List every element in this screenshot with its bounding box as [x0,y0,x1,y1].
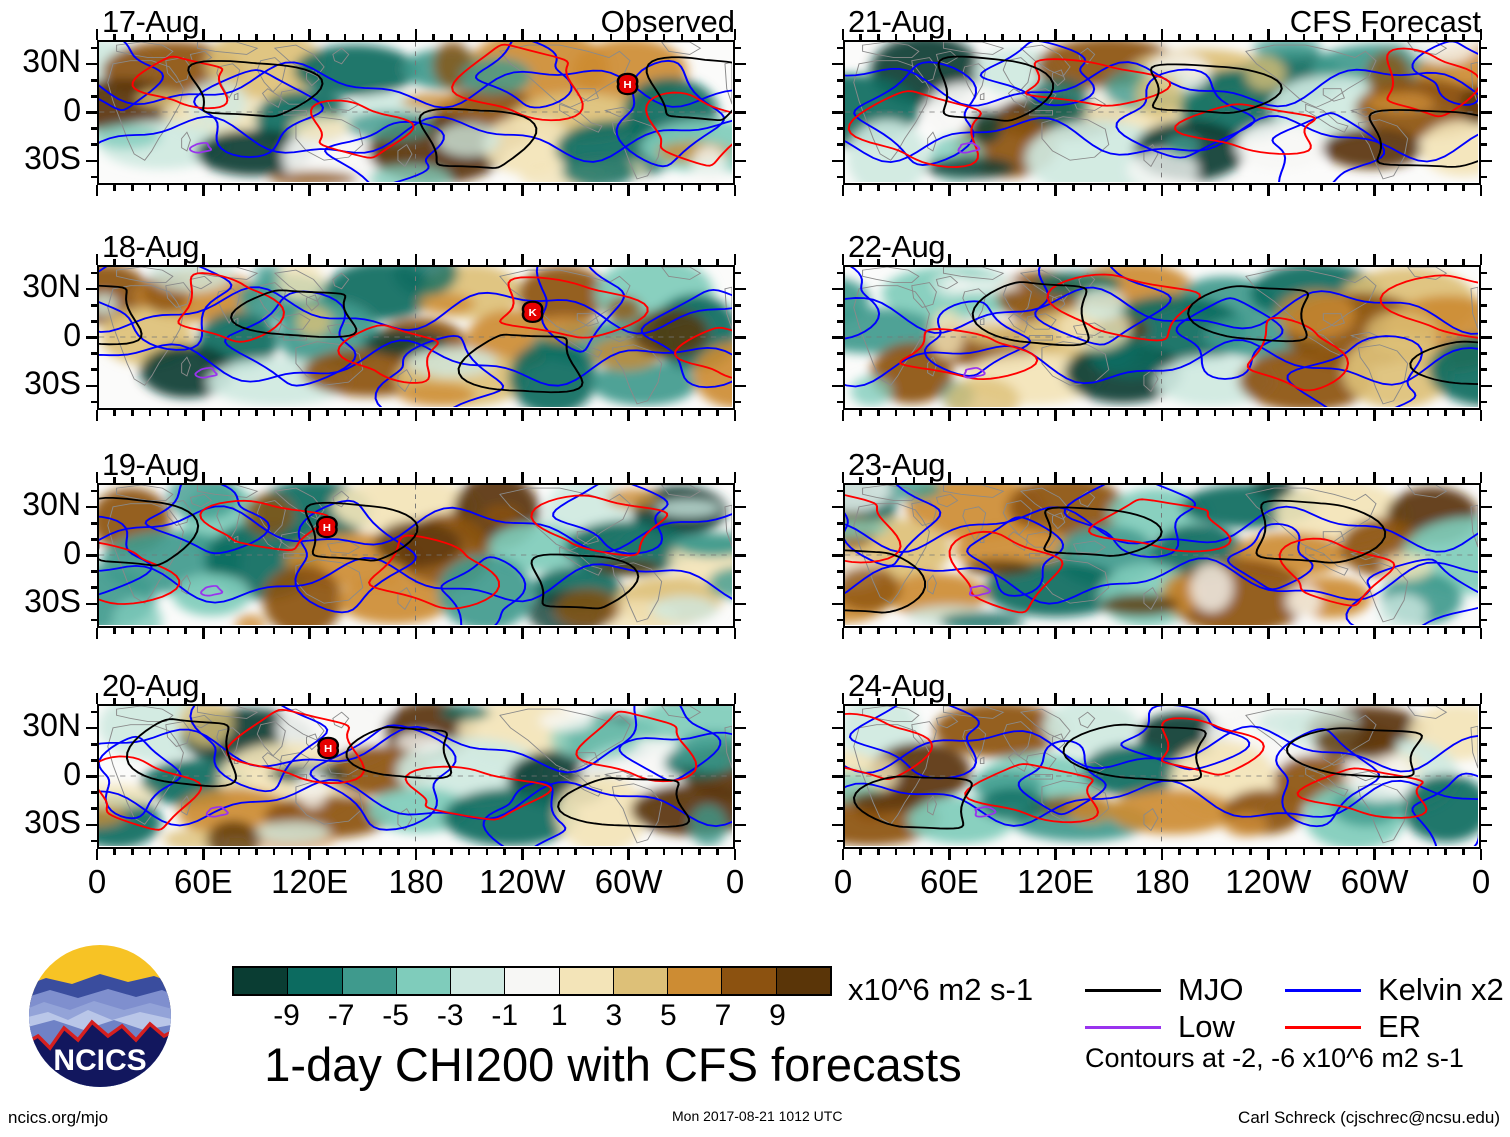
axis-tick [96,628,99,639]
axis-tick [832,288,843,291]
colorbar-segment [722,968,776,994]
axis-tick [837,807,843,810]
axis-tick [202,849,205,860]
axis-tick [1481,554,1492,557]
axis-tick [91,619,97,622]
axis-tick [86,288,97,291]
axis-tick [1214,477,1217,483]
axis-tick [1462,698,1465,704]
axis-tick [1481,320,1487,323]
axis-tick [948,472,951,483]
axis-tick [113,259,116,265]
axis-tick [379,628,382,634]
axis-tick [96,472,99,483]
axis-tick [397,34,400,40]
axis-tick [735,385,746,388]
axis-tick [735,127,741,130]
axis-tick [735,603,746,606]
axis-tick [1373,849,1376,860]
axis-tick [521,410,524,421]
axis-tick [832,554,843,557]
axis-tick [1249,698,1252,704]
axis-tick [984,477,987,483]
tropical-cyclone-icon: K [523,302,542,322]
axis-tick [1481,368,1487,371]
axis-tick [930,34,933,40]
axis-tick [1143,185,1146,191]
axis-tick [468,259,471,265]
colorbar-tick-label: 9 [737,999,817,1033]
axis-tick [895,698,898,704]
colorbar-units-label: x10^6 m2 s-1 [848,972,1033,1008]
colorbar-segment [560,968,614,994]
axis-tick [379,410,382,416]
axis-tick [91,320,97,323]
axis-tick [592,410,595,416]
axis-tick [167,34,170,40]
axis-tick [627,849,630,860]
axis-tick [1481,619,1487,622]
colorbar-segment [614,968,668,994]
axis-tick [167,259,170,265]
axis-tick [326,259,329,265]
footer-url[interactable]: ncics.org/mjo [8,1108,108,1128]
axis-tick [273,698,276,704]
axis-tick [1108,849,1111,855]
axis-tick [1444,34,1447,40]
axis-tick [308,185,311,196]
axis-tick [149,259,152,265]
axis-tick [521,185,524,196]
legend-swatch [1285,1026,1361,1029]
axis-tick [1019,259,1022,265]
axis-tick [503,698,506,704]
cyclone-label: H [324,744,332,755]
axis-tick [645,628,648,634]
axis-tick [1125,259,1128,265]
axis-tick [273,259,276,265]
axis-tick [1037,410,1040,416]
axis-tick [255,34,258,40]
legend-swatch [1285,989,1361,992]
axis-tick [837,352,843,355]
axis-tick [1072,628,1075,634]
axis-tick [539,849,542,855]
axis-tick [984,259,987,265]
axis-tick [397,628,400,634]
axis-tick [486,185,489,191]
axis-tick [842,472,845,483]
axis-tick [344,34,347,40]
axis-tick [1019,410,1022,416]
axis-tick [1001,34,1004,40]
axis-tick [1143,628,1146,634]
axis-tick [735,79,741,82]
axis-tick [1303,185,1306,191]
axis-tick [832,603,843,606]
axis-tick [113,849,116,855]
axis-tick [91,570,97,573]
axis-tick [681,698,684,704]
axis-tick [202,628,205,639]
axis-tick [948,628,951,639]
axis-tick [1285,698,1288,704]
axis-tick [503,185,506,191]
axis-tick [913,628,916,634]
axis-tick [167,185,170,191]
axis-tick [837,840,843,843]
axis-tick [184,259,187,265]
axis-tick [432,185,435,191]
axis-tick [837,95,843,98]
axis-tick [1214,34,1217,40]
axis-tick [837,176,843,179]
axis-tick [1019,185,1022,191]
axis-tick [539,259,542,265]
axis-tick [91,272,97,275]
axis-tick [1320,34,1323,40]
axis-tick [1481,272,1487,275]
axis-tick [1054,472,1057,483]
axis-tick [859,628,862,634]
axis-tick [645,185,648,191]
axis-tick [113,34,116,40]
axis-tick [1373,410,1376,421]
axis-tick [1249,410,1252,416]
x-axis-label: 0 [1421,863,1510,901]
colorbar-segment [397,968,451,994]
map-field [845,706,1478,846]
axis-tick [468,849,471,855]
axis-tick [681,410,684,416]
axis-tick [681,477,684,483]
axis-tick [1001,477,1004,483]
tropical-cyclone-icon: H [618,74,637,94]
axis-tick [1019,698,1022,704]
axis-tick [1249,849,1252,855]
axis-tick [326,849,329,855]
axis-tick [1108,477,1111,483]
axis-tick [735,288,746,291]
axis-tick [966,259,969,265]
axis-tick [202,185,205,196]
axis-tick [1481,490,1487,493]
axis-tick [149,34,152,40]
axis-tick [663,410,666,416]
axis-tick [735,490,741,493]
axis-tick [1037,259,1040,265]
axis-tick [948,410,951,421]
axis-tick [1303,628,1306,634]
axis-tick [837,743,843,746]
axis-tick [837,490,843,493]
axis-tick [1481,570,1487,573]
axis-tick [913,259,916,265]
axis-tick [1125,477,1128,483]
axis-tick [86,385,97,388]
axis-tick [895,185,898,191]
x-axis-label: 60W [1315,863,1435,901]
axis-tick [308,254,311,265]
axis-tick [1125,34,1128,40]
axis-tick [1019,628,1022,634]
axis-tick [735,336,746,339]
axis-tick [1108,185,1111,191]
axis-tick [1356,477,1359,483]
axis-tick [837,522,843,525]
axis-tick [1090,849,1093,855]
axis-tick [1481,791,1487,794]
axis-tick [1214,185,1217,191]
axis-tick [503,477,506,483]
axis-tick [131,849,134,855]
axis-tick [895,849,898,855]
axis-tick [877,477,880,483]
y-axis-label: 30N [0,486,81,523]
axis-tick [149,849,152,855]
axis-tick [450,849,453,855]
axis-tick [91,352,97,355]
axis-tick [557,849,560,855]
axis-tick [610,34,613,40]
axis-tick [837,711,843,714]
axis-tick [1196,34,1199,40]
axis-tick [1249,185,1252,191]
axis-tick [91,176,97,179]
axis-tick [1178,477,1181,483]
axis-tick [734,849,737,860]
axis-tick [832,160,843,163]
map-field [845,267,1478,407]
axis-tick [735,160,746,163]
axis-tick [610,410,613,416]
axis-tick [1444,477,1447,483]
axis-tick [539,477,542,483]
axis-tick [895,34,898,40]
axis-tick [468,410,471,416]
axis-tick [255,259,258,265]
axis-tick [930,259,933,265]
axis-tick [1178,410,1181,416]
axis-tick [397,477,400,483]
axis-tick [1037,628,1040,634]
axis-tick [539,185,542,191]
axis-tick [734,29,737,40]
axis-tick [627,693,630,704]
axis-tick [1427,410,1430,416]
axis-tick [735,272,741,275]
axis-tick [1373,185,1376,196]
axis-tick [91,368,97,371]
axis-tick [1481,63,1492,66]
axis-tick [450,259,453,265]
axis-tick [984,628,987,634]
axis-tick [1196,477,1199,483]
x-axis-label: 0 [783,863,903,901]
axis-tick [379,849,382,855]
colorbar [232,966,832,996]
axis-tick [1409,410,1412,416]
axis-tick [308,628,311,639]
axis-tick [1072,849,1075,855]
axis-tick [1232,849,1235,855]
axis-tick [113,410,116,416]
axis-tick [1462,477,1465,483]
axis-tick [837,79,843,82]
axis-tick [735,775,746,778]
axis-tick [1232,698,1235,704]
axis-tick [362,477,365,483]
axis-tick [326,185,329,191]
axis-tick [1143,849,1146,855]
axis-tick [948,693,951,704]
axis-tick [574,698,577,704]
axis-tick [1196,410,1199,416]
axis-tick [592,628,595,634]
axis-tick [1481,385,1492,388]
axis-tick [557,34,560,40]
map-field [845,485,1478,625]
x-axis-label: 120W [462,863,582,901]
axis-tick [1037,185,1040,191]
x-axis-label: 60E [889,863,1009,901]
axis-tick [1196,849,1199,855]
axis-tick [930,628,933,634]
axis-tick [877,185,880,191]
axis-tick [895,410,898,416]
axis-tick [610,477,613,483]
axis-tick [627,628,630,639]
axis-tick [832,727,843,730]
axis-tick [326,410,329,416]
axis-tick [1232,628,1235,634]
y-axis-label: 0 [0,92,81,129]
axis-tick [877,410,880,416]
axis-tick [735,176,741,179]
axis-tick [255,849,258,855]
axis-tick [86,554,97,557]
axis-tick [663,628,666,634]
axis-tick [966,477,969,483]
axis-tick [837,791,843,794]
axis-tick [1391,410,1394,416]
axis-tick [1481,506,1492,509]
axis-tick [1481,127,1487,130]
axis-tick [432,628,435,634]
axis-tick [627,410,630,421]
axis-tick [1481,401,1487,404]
axis-tick [837,759,843,762]
axis-tick [1303,849,1306,855]
colorbar-segment [343,968,397,994]
axis-tick [1019,34,1022,40]
axis-tick [1037,698,1040,704]
axis-tick [1462,849,1465,855]
axis-tick [113,628,116,634]
axis-tick [450,34,453,40]
colorbar-segment [288,968,342,994]
axis-tick [86,160,97,163]
axis-tick [273,410,276,416]
axis-tick [86,603,97,606]
axis-tick [1480,628,1483,639]
axis-tick [1481,759,1487,762]
axis-tick [86,775,97,778]
axis-tick [557,477,560,483]
axis-tick [1373,29,1376,40]
axis-tick [1090,185,1093,191]
axis-tick [1108,698,1111,704]
axis-tick [574,34,577,40]
axis-tick [220,185,223,191]
axis-tick [1481,352,1487,355]
axis-tick [1356,185,1359,191]
axis-tick [1480,410,1483,421]
axis-tick [1249,477,1252,483]
legend-label: ER [1378,1009,1421,1045]
axis-tick [1481,586,1487,589]
axis-tick [1196,628,1199,634]
axis-tick [1161,693,1164,704]
axis-tick [1125,698,1128,704]
axis-tick [984,410,987,416]
axis-tick [966,410,969,416]
axis-tick [1427,849,1430,855]
axis-tick [966,185,969,191]
map-panel [843,40,1481,185]
axis-tick [1462,185,1465,191]
axis-tick [645,259,648,265]
axis-tick [91,143,97,146]
axis-tick [859,698,862,704]
axis-tick [627,254,630,265]
axis-tick [966,698,969,704]
axis-tick [362,259,365,265]
axis-tick [397,698,400,704]
axis-tick [91,840,97,843]
axis-tick [1409,477,1412,483]
axis-tick [1391,259,1394,265]
axis-tick [1214,698,1217,704]
axis-tick [842,29,845,40]
axis-tick [1090,259,1093,265]
axis-tick [735,522,741,525]
axis-tick [842,693,845,704]
axis-tick [86,336,97,339]
axis-tick [91,47,97,50]
axis-tick [96,185,99,196]
axis-tick [1161,29,1164,40]
axis-tick [415,628,418,639]
axis-tick [837,570,843,573]
axis-tick [1481,304,1487,307]
axis-tick [1444,849,1447,855]
axis-tick [539,410,542,416]
axis-tick [627,29,630,40]
axis-tick [362,34,365,40]
axis-tick [1409,698,1412,704]
axis-tick [735,554,746,557]
axis-tick [344,698,347,704]
axis-tick [220,477,223,483]
axis-tick [1303,477,1306,483]
axis-tick [1338,698,1341,704]
axis-tick [308,29,311,40]
axis-tick [698,410,701,416]
axis-tick [1462,259,1465,265]
axis-tick [1178,628,1181,634]
axis-tick [255,185,258,191]
